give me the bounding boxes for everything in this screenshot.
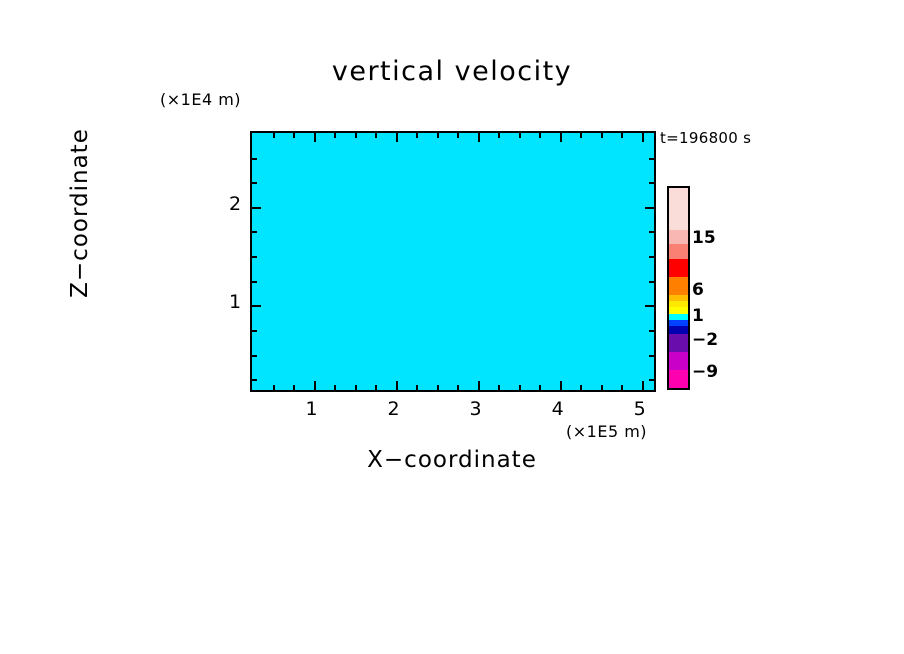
x-minor-tick-top — [293, 133, 295, 138]
colorbar-band — [669, 259, 688, 277]
x-minor-tick-top — [375, 133, 377, 138]
x-major-tick-top — [314, 133, 316, 142]
x-minor-tick-top — [334, 133, 336, 138]
x-tick-label: 3 — [470, 398, 482, 420]
x-tick-label: 2 — [388, 398, 400, 420]
y-major-tick-right — [645, 305, 654, 307]
colorbar-band — [669, 370, 688, 388]
x-minor-tick-top — [601, 133, 603, 138]
colorbar-tick-label: 1 — [692, 306, 704, 326]
colorbar-band — [669, 244, 688, 258]
y-minor-tick-right — [649, 355, 654, 357]
colorbar-band — [669, 188, 688, 230]
contour-plot-area — [250, 131, 656, 392]
x-major-tick — [396, 381, 398, 390]
x-minor-tick — [580, 385, 582, 390]
x-minor-tick — [539, 385, 541, 390]
x-major-tick-top — [642, 133, 644, 142]
y-minor-tick-right — [649, 158, 654, 160]
x-tick-label: 1 — [306, 398, 318, 420]
x-minor-tick-top — [457, 133, 459, 138]
y-major-tick — [252, 305, 261, 307]
x-minor-tick-top — [621, 133, 623, 138]
y-minor-tick-right — [649, 281, 654, 283]
timestamp-annotation: t=196800 s — [660, 129, 751, 147]
x-major-tick-top — [396, 133, 398, 142]
x-axis-title: X−coordinate — [0, 447, 904, 473]
x-minor-tick-top — [519, 133, 521, 138]
page-title: vertical velocity — [0, 56, 904, 87]
colorbar-band — [669, 334, 688, 352]
y-major-tick-right — [645, 207, 654, 209]
y-minor-tick — [252, 231, 257, 233]
x-minor-tick — [621, 385, 623, 390]
colorbar-tick-label: −2 — [692, 330, 718, 350]
x-minor-tick — [334, 385, 336, 390]
y-axis-title: Z−coordinate — [67, 63, 93, 363]
x-minor-tick-top — [273, 133, 275, 138]
y-minor-tick — [252, 256, 257, 258]
x-minor-tick — [457, 385, 459, 390]
x-major-tick — [314, 381, 316, 390]
colorbar — [667, 186, 690, 390]
y-major-tick — [252, 207, 261, 209]
y-minor-tick — [252, 330, 257, 332]
x-minor-tick — [498, 385, 500, 390]
x-minor-tick-top — [498, 133, 500, 138]
y-minor-tick — [252, 281, 257, 283]
y-minor-tick-right — [649, 379, 654, 381]
x-minor-tick-top — [416, 133, 418, 138]
x-minor-tick-top — [355, 133, 357, 138]
y-minor-tick-right — [649, 231, 654, 233]
x-minor-tick — [375, 385, 377, 390]
y-minor-tick-right — [649, 330, 654, 332]
y-minor-tick-right — [649, 182, 654, 184]
x-minor-tick — [601, 385, 603, 390]
x-minor-tick — [273, 385, 275, 390]
x-axis-unit-label: (×1E5 m) — [566, 422, 647, 441]
x-tick-label: 4 — [552, 398, 564, 420]
x-major-tick — [478, 381, 480, 390]
y-minor-tick — [252, 355, 257, 357]
x-minor-tick — [355, 385, 357, 390]
colorbar-tick-label: 15 — [692, 228, 716, 248]
colorbar-tick-label: 6 — [692, 280, 704, 300]
x-minor-tick-top — [437, 133, 439, 138]
colorbar-band — [669, 230, 688, 244]
x-major-tick-top — [478, 133, 480, 142]
x-minor-tick — [519, 385, 521, 390]
x-minor-tick — [437, 385, 439, 390]
x-major-tick-top — [560, 133, 562, 142]
colorbar-band — [669, 352, 688, 370]
y-minor-tick — [252, 379, 257, 381]
colorbar-band — [669, 277, 688, 295]
x-minor-tick-top — [539, 133, 541, 138]
colorbar-band — [669, 326, 688, 333]
y-axis-unit-label: (×1E4 m) — [160, 90, 241, 109]
x-major-tick — [560, 381, 562, 390]
x-minor-tick — [416, 385, 418, 390]
colorbar-tick-label: −9 — [692, 362, 718, 382]
y-tick-label: 1 — [229, 291, 241, 313]
velocity-field-image — [252, 133, 654, 390]
x-major-tick — [642, 381, 644, 390]
y-minor-tick — [252, 182, 257, 184]
x-minor-tick — [293, 385, 295, 390]
x-minor-tick-top — [580, 133, 582, 138]
x-tick-label: 5 — [634, 398, 646, 420]
y-minor-tick-right — [649, 256, 654, 258]
y-tick-label: 2 — [229, 193, 241, 215]
y-minor-tick — [252, 158, 257, 160]
